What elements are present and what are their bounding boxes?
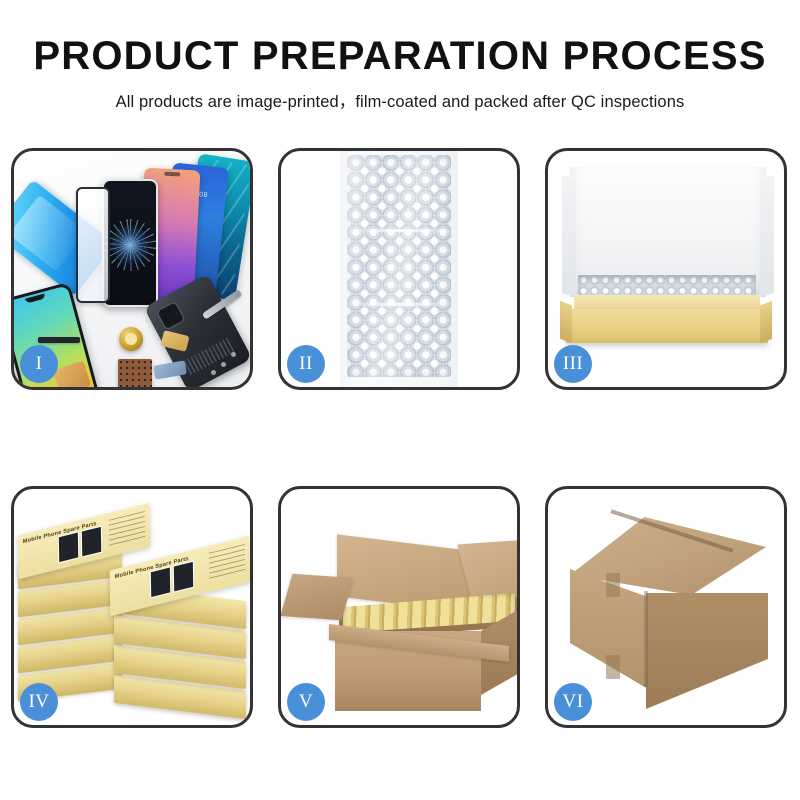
screw-icon	[211, 370, 216, 375]
carton-right-panel	[646, 593, 768, 709]
wrap-seam	[347, 229, 451, 232]
screw-icon	[221, 362, 226, 367]
step-badge-1: I	[20, 345, 58, 383]
step-badge-3: III	[554, 345, 592, 383]
notch-icon	[164, 172, 180, 177]
notch-icon	[25, 294, 46, 304]
box-window-icon	[81, 526, 102, 558]
step-badge-6: VI	[554, 683, 592, 721]
process-step-1: 08:08	[11, 148, 253, 390]
wrap-seam	[347, 303, 451, 306]
step-badge-2: II	[287, 345, 325, 383]
speaker-coil-icon	[119, 327, 143, 351]
box-window-icon	[58, 531, 79, 563]
process-step-4: Mobile Phone Spare Parts Mobile Phone Sp…	[11, 486, 253, 728]
phone-black-screen-icon	[102, 179, 158, 307]
carton-tape-icon	[606, 655, 620, 679]
carton-flap-left-icon	[281, 574, 354, 621]
carton-tape-icon	[606, 573, 620, 597]
process-step-grid: 08:08	[11, 148, 790, 728]
process-step-2: II	[278, 148, 520, 390]
box-right-edge	[760, 301, 772, 343]
page-subtitle: All products are image-printed，film-coat…	[0, 88, 800, 112]
carton-vertical-edge	[644, 591, 648, 687]
screw-icon	[231, 352, 236, 357]
circuit-chip-icon	[118, 359, 152, 387]
header: PRODUCT PREPARATION PROCESS All products…	[0, 0, 800, 112]
step-badge-5: V	[287, 683, 325, 721]
box-left-edge	[560, 301, 572, 343]
screen-protector-icon	[76, 187, 110, 303]
process-step-5: V	[278, 486, 520, 728]
yellow-box-front-icon	[566, 309, 768, 343]
page-title: PRODUCT PREPARATION PROCESS	[0, 34, 800, 78]
product-preparation-infographic: PRODUCT PREPARATION PROCESS All products…	[0, 0, 800, 800]
antenna-bar-icon	[38, 337, 80, 343]
box-spec-lines	[109, 511, 146, 550]
step-badge-4: IV	[20, 683, 58, 721]
bubble-wrap-icon	[347, 155, 451, 377]
box-spec-lines	[209, 544, 246, 583]
wallpaper-burst-icon	[110, 225, 150, 265]
process-step-6: VI	[545, 486, 787, 728]
box-window-icon	[150, 566, 171, 598]
process-step-3: III	[545, 148, 787, 390]
box-window-icon	[173, 561, 194, 593]
